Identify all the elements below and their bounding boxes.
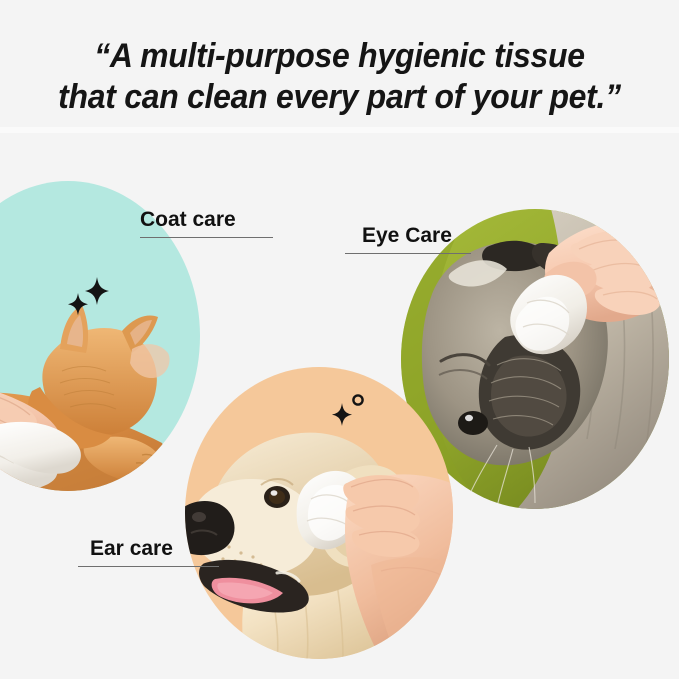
label-coat-care: Coat care	[140, 208, 273, 238]
label-eye-care-rule	[345, 253, 471, 254]
label-eye-care: Eye Care	[345, 224, 471, 254]
coat-care-sparkles	[63, 273, 123, 323]
label-ear-care-rule	[78, 566, 219, 567]
label-coat-care-rule	[140, 237, 273, 238]
label-ear-care-text: Ear care	[90, 537, 219, 561]
product-feature-banner: “A multi-purpose hygienic tissue that ca…	[0, 0, 679, 679]
ear-care-illustration	[185, 367, 453, 659]
headline-band: “A multi-purpose hygienic tissue that ca…	[0, 0, 679, 127]
sparkle-icon	[328, 391, 378, 435]
label-coat-care-text: Coat care	[140, 208, 273, 232]
sparkle-icon	[63, 273, 123, 323]
label-ear-care: Ear care	[78, 537, 219, 567]
label-eye-care-text: Eye Care	[362, 224, 471, 248]
ear-care-photo	[185, 367, 453, 659]
page-title: “A multi-purpose hygienic tissue that ca…	[20, 36, 658, 118]
ear-care-sparkles	[328, 391, 378, 435]
feature-collage: Coat care Eye Care Ear care	[0, 133, 679, 679]
